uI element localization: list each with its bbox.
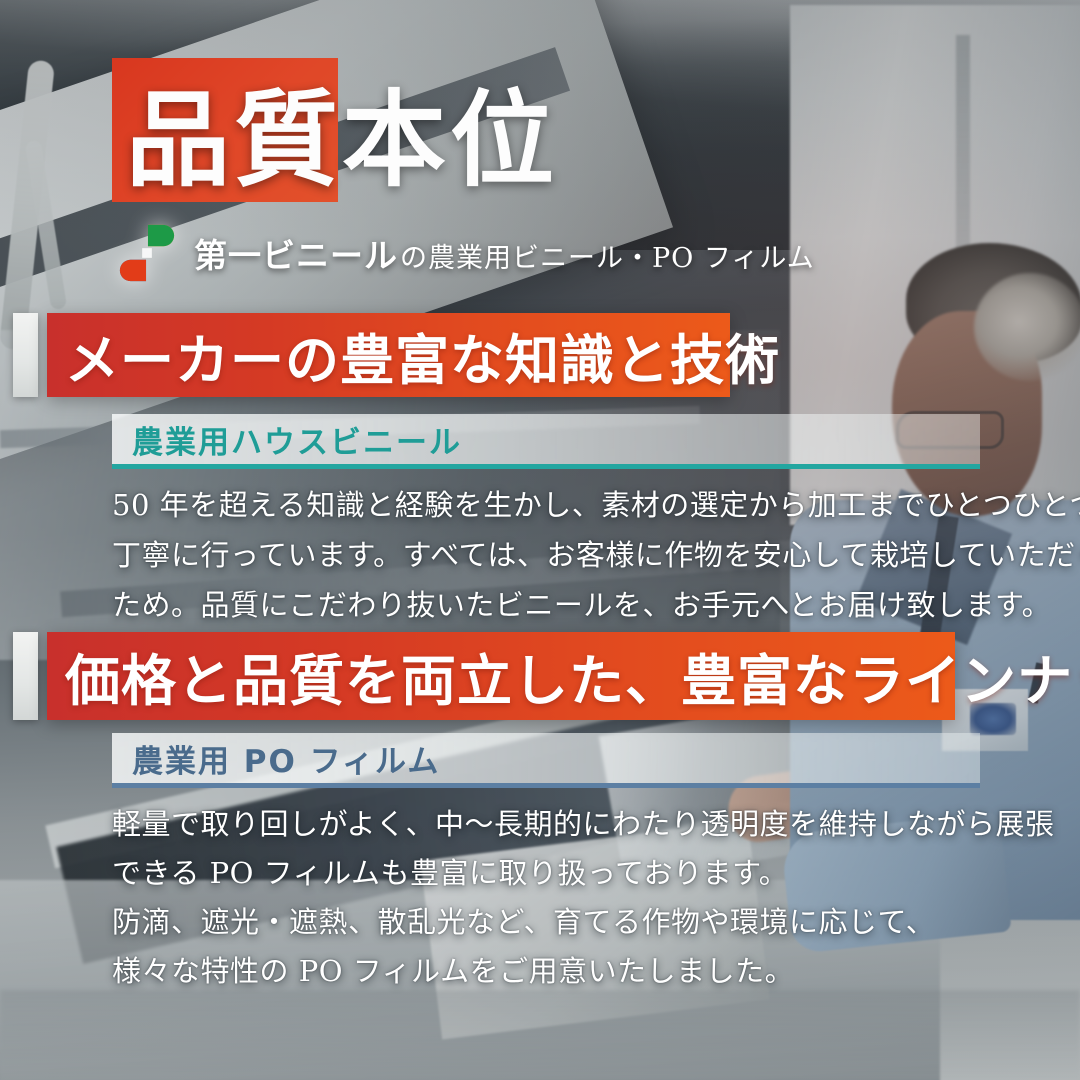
band-accent-bar-1	[13, 313, 38, 397]
body-line: 50 年を超える知識と経験を生かし、素材の選定から加工までひとつひとつ	[112, 481, 992, 531]
body-line: できる PO フィルムも豊富に取り扱っております。	[112, 849, 992, 898]
four-petal-pinwheel-logo	[116, 222, 178, 284]
headline-1-label: メーカーの豊富な知識と技術	[47, 316, 800, 395]
body-line: ため。品質にこだわり抜いたビニールを、お手元へとお届け致します。	[112, 581, 992, 631]
subheading-panel-2: 農業用 PO フィルム	[112, 733, 980, 788]
subheading-2-label: 農業用 PO フィルム	[112, 736, 440, 781]
brand-tagline: の農業用ビニール・PO フィルム	[400, 236, 815, 275]
body-text-1: 50 年を超える知識と経験を生かし、素材の選定から加工までひとつひとつ 丁寧に行…	[112, 481, 992, 631]
body-text-2: 軽量で取り回しがよく、中〜長期的にわたり透明度を維持しながら展張 できる PO …	[112, 800, 992, 996]
body-line: 様々な特性の PO フィルムをご用意いたしました。	[112, 947, 992, 996]
band-1-body: メーカーの豊富な知識と技術	[47, 313, 730, 397]
subheading-panel-1: 農業用ハウスビニール	[112, 414, 980, 469]
brand-name: 第一ビニール	[194, 229, 398, 277]
content-layer: 品質本位 第一ビニール の農業用ビニール・PO フィルム	[0, 0, 1080, 1080]
title-row: 品質本位	[0, 58, 1080, 202]
page-title: 品質本位	[112, 58, 558, 202]
brand-row: 第一ビニール の農業用ビニール・PO フィルム	[116, 222, 815, 284]
band-2-body: 価格と品質を両立した、豊富なラインナップ	[47, 632, 955, 720]
brand-text: 第一ビニール の農業用ビニール・PO フィルム	[194, 229, 815, 277]
banner-canvas: 品質本位 第一ビニール の農業用ビニール・PO フィルム	[0, 0, 1080, 1080]
body-line: 丁寧に行っています。すべては、お客様に作物を安心して栽培していただく	[112, 531, 992, 581]
body-line: 防滴、遮光・遮熱、散乱光など、育てる作物や環境に応じて、	[112, 898, 992, 947]
headline-2-label: 価格と品質を両立した、豊富なラインナップ	[47, 636, 1080, 716]
subheading-1-label: 農業用ハウスビニール	[112, 417, 462, 462]
band-accent-bar-2	[13, 632, 38, 720]
body-line: 軽量で取り回しがよく、中〜長期的にわたり透明度を維持しながら展張	[112, 800, 992, 849]
